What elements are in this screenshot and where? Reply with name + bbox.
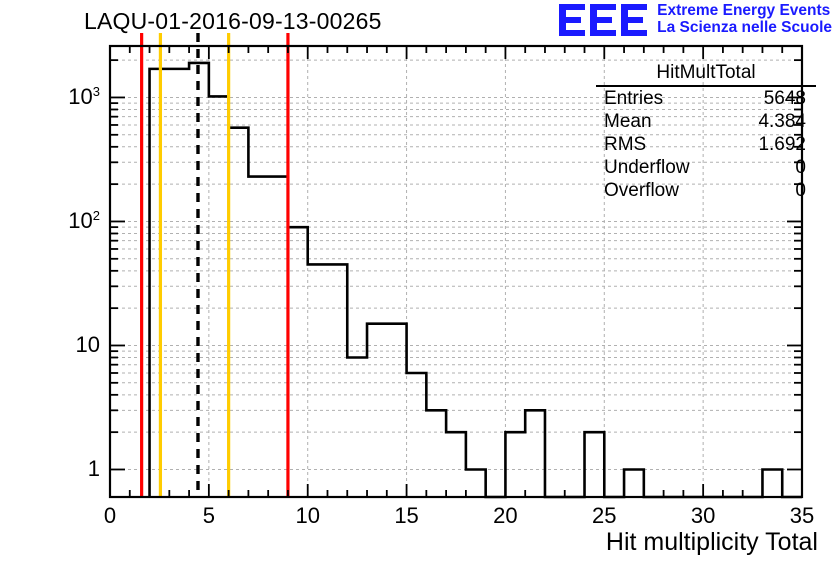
stats-row: Entries5648	[596, 87, 816, 110]
stats-rows: Entries5648Mean4.384RMS1.692Underflow0Ov…	[596, 87, 816, 202]
stats-row-value: 0	[795, 180, 816, 202]
stats-row-value: 4.384	[758, 111, 816, 133]
stats-row-key: RMS	[596, 134, 646, 156]
y-tick-label: 103	[28, 84, 100, 110]
x-tick-label: 15	[394, 503, 418, 529]
stats-row-key: Entries	[596, 88, 663, 110]
histogram-page: LAQU-01-2016-09-13-00265 Extreme Energy …	[0, 0, 836, 572]
stats-row-key: Mean	[596, 111, 652, 133]
stats-box: HitMultTotal Entries5648Mean4.384RMS1.69…	[596, 62, 816, 202]
stats-row: Mean4.384	[596, 110, 816, 133]
stats-row: RMS1.692	[596, 133, 816, 156]
stats-row-value: 1.692	[758, 134, 816, 156]
stats-row-value: 0	[795, 157, 816, 179]
stats-row-value: 5648	[764, 88, 816, 110]
stats-row-key: Underflow	[596, 157, 690, 179]
x-tick-label: 10	[295, 503, 319, 529]
y-tick-label: 10	[28, 332, 100, 358]
x-tick-label: 5	[203, 503, 215, 529]
stats-row: Overflow0	[596, 179, 816, 202]
x-axis-title: Hit multiplicity Total	[606, 528, 818, 557]
y-tick-label: 1	[28, 456, 100, 482]
y-tick-label: 102	[28, 208, 100, 234]
stats-row-key: Overflow	[596, 180, 679, 202]
stats-title: HitMultTotal	[596, 62, 816, 87]
x-tick-label: 30	[691, 503, 715, 529]
x-tick-label: 20	[493, 503, 517, 529]
x-tick-label: 35	[790, 503, 814, 529]
stats-row: Underflow0	[596, 156, 816, 179]
x-tick-label: 25	[592, 503, 616, 529]
x-tick-label: 0	[104, 503, 116, 529]
